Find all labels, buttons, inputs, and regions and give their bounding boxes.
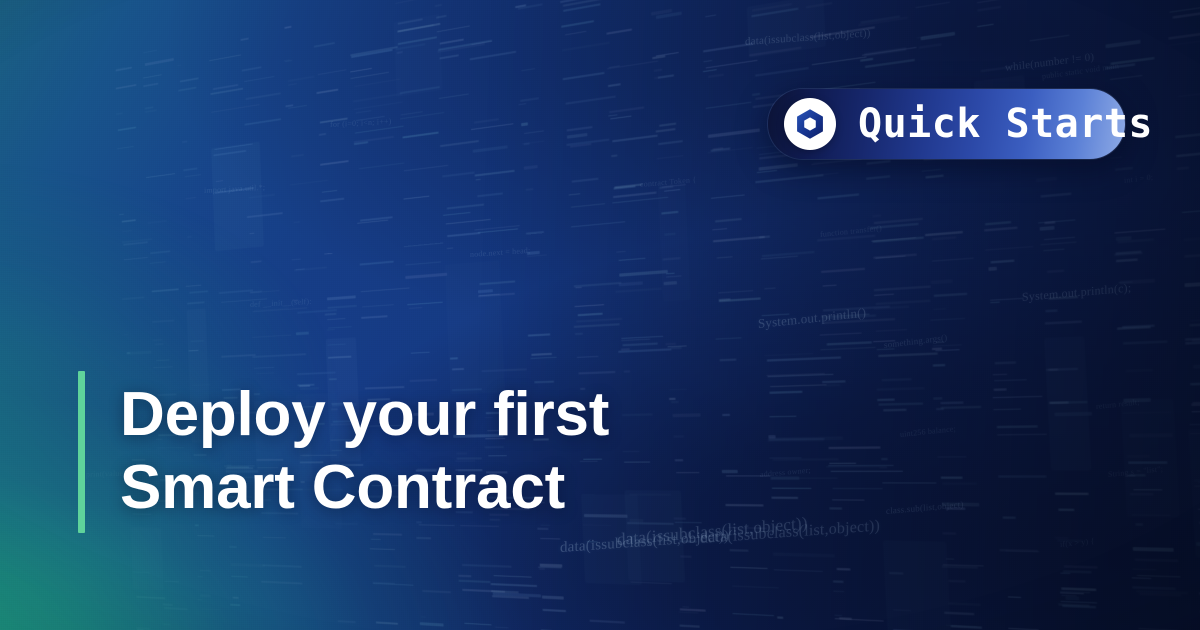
quickstarts-badge[interactable]: Quick Starts bbox=[768, 89, 1125, 159]
quickstarts-banner: data(issubclass(list,object))while(numbe… bbox=[0, 0, 1200, 630]
quickstarts-badge-label: Quick Starts bbox=[858, 104, 1153, 144]
page-title: Deploy your first Smart Contract bbox=[120, 378, 740, 524]
headline-accent-bar bbox=[78, 371, 85, 533]
page-title-line-2: Smart Contract bbox=[120, 451, 740, 524]
page-title-line-1: Deploy your first bbox=[120, 378, 740, 451]
chainlink-hexagon-icon bbox=[784, 98, 836, 150]
